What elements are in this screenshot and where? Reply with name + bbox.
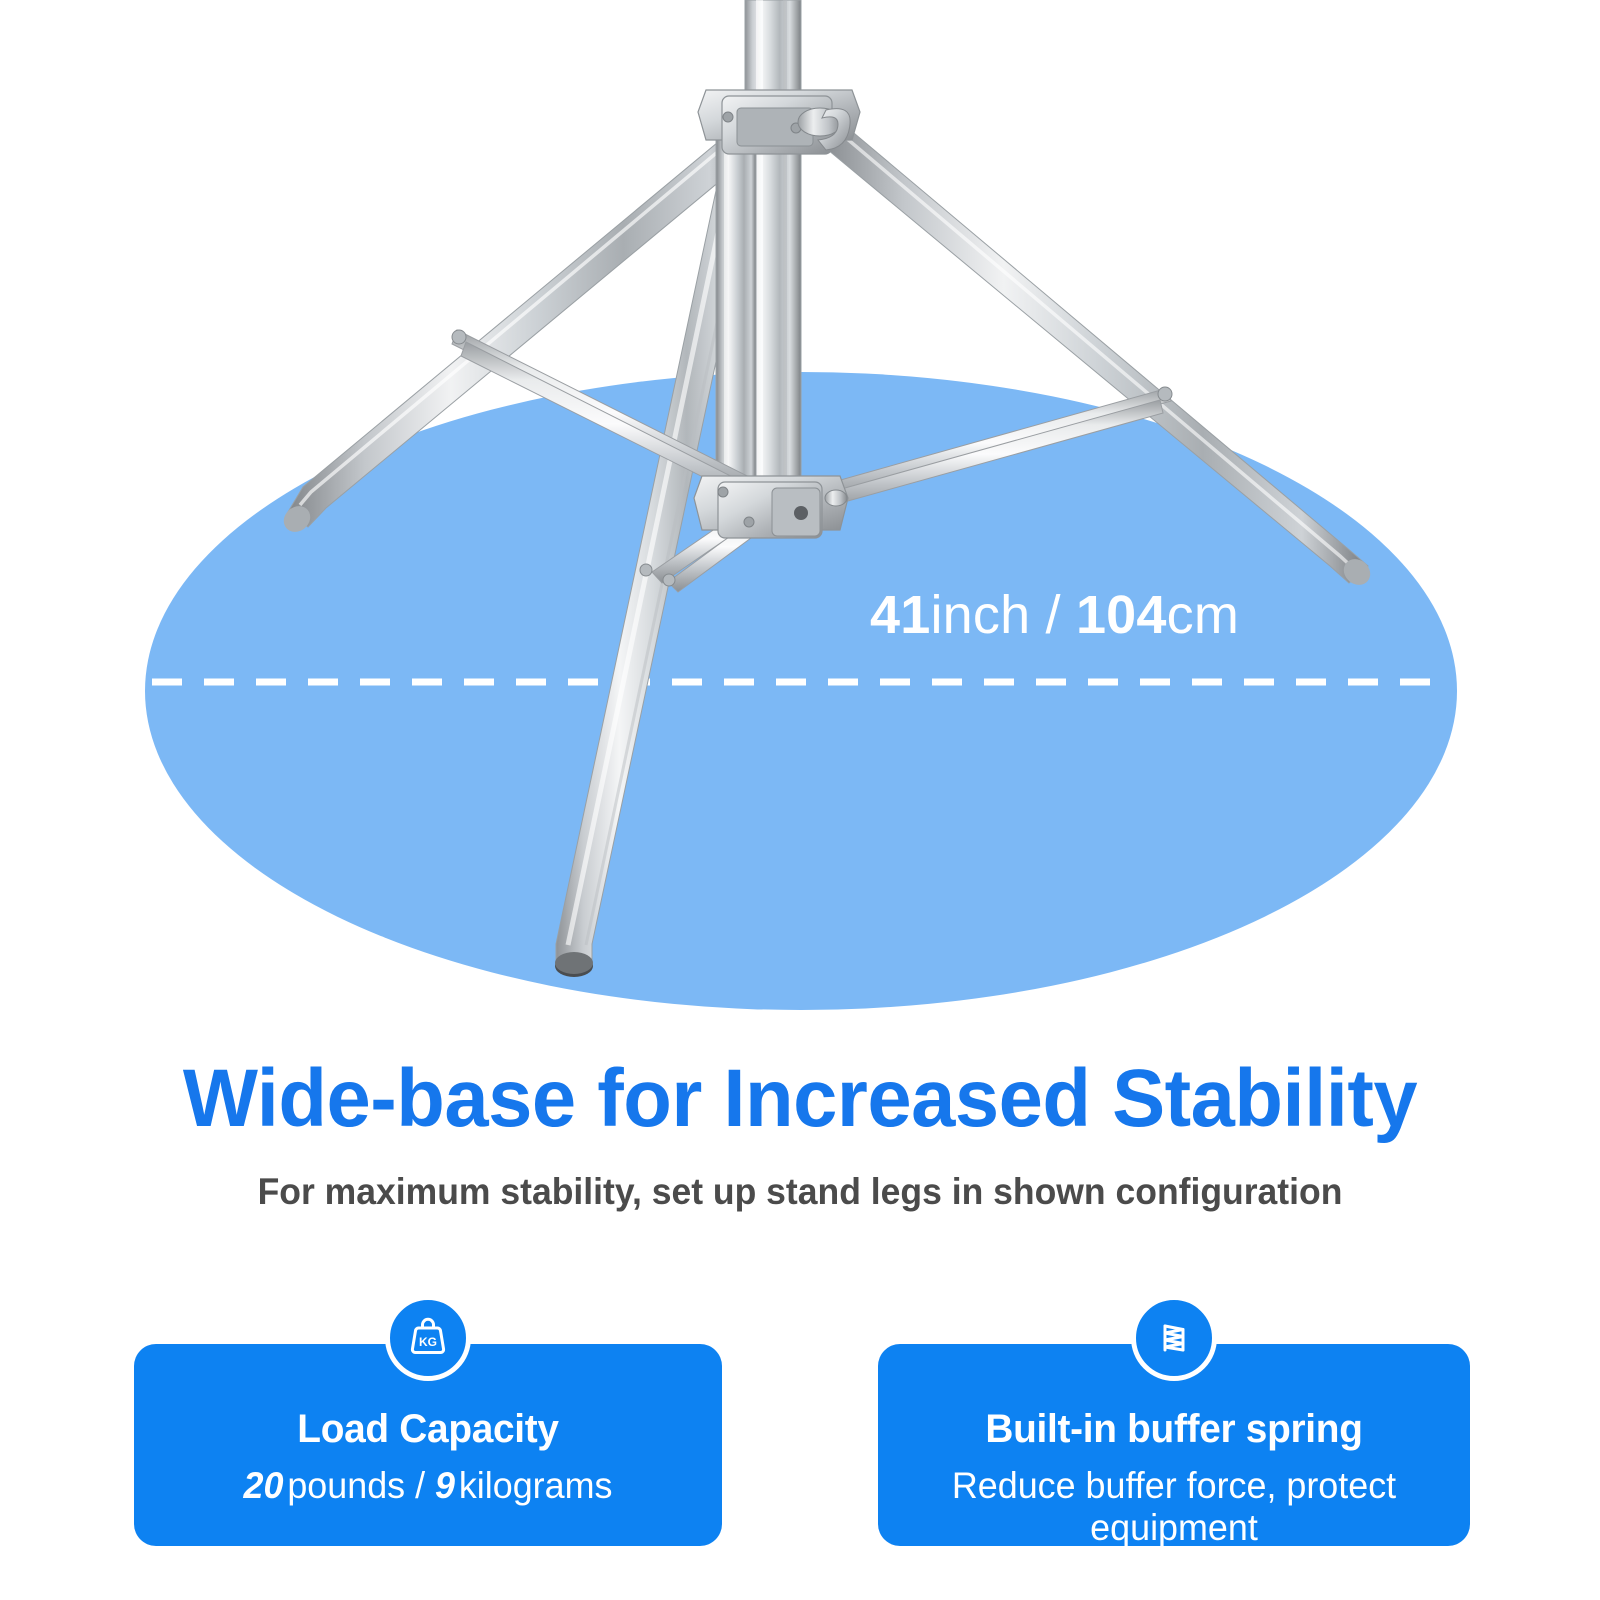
diameter-cm-value: 104 (1076, 585, 1167, 645)
headline-block: Wide-base for Increased Stability For ma… (0, 1058, 1600, 1213)
page-title: Wide-base for Increased Stability (24, 1058, 1576, 1140)
lower-hub-collar (694, 476, 848, 538)
buffer-spring-icon (1148, 1312, 1200, 1364)
load-kilograms-value: 9 (435, 1465, 459, 1506)
buffer-spring-badge (1131, 1295, 1217, 1381)
page-subtitle: For maximum stability, set up stand legs… (32, 1172, 1568, 1213)
buffer-spring-title: Built-in buffer spring (887, 1407, 1461, 1452)
weight-bag-kg-icon: KG (402, 1312, 454, 1364)
feature-card-row: KG Load Capacity 20pounds / 9kilograms B… (0, 1300, 1600, 1600)
load-separator: / (415, 1465, 425, 1506)
base-diameter-label: 41inch / 104cm (870, 584, 1239, 646)
load-kilograms-unit: kilograms (459, 1465, 613, 1506)
center-column-inner (716, 120, 756, 500)
upper-collar-clamp (698, 90, 860, 154)
load-capacity-title: Load Capacity (143, 1407, 713, 1452)
load-pounds-value: 20 (244, 1465, 288, 1506)
load-capacity-value: 20pounds / 9kilograms (143, 1465, 713, 1507)
load-pounds-unit: pounds (287, 1465, 405, 1506)
feature-card-load-capacity[interactable]: KG Load Capacity 20pounds / 9kilograms (134, 1344, 722, 1546)
diameter-inch-unit: inch (930, 585, 1030, 645)
diameter-cm-unit: cm (1167, 585, 1239, 645)
diameter-inch-value: 41 (870, 585, 930, 645)
kg-icon-text: KG (419, 1335, 437, 1349)
infographic-page: 41inch / 104cm Wide-base for Increased S… (0, 0, 1600, 1600)
tripod-illustration (0, 0, 1600, 1045)
buffer-spring-subtitle: Reduce buffer force, protect equipment (887, 1465, 1461, 1549)
product-hero-image: 41inch / 104cm (0, 0, 1600, 1045)
load-capacity-badge: KG (385, 1295, 471, 1381)
feature-card-buffer-spring[interactable]: Built-in buffer spring Reduce buffer for… (878, 1344, 1470, 1546)
diameter-separator: / (1030, 585, 1076, 645)
